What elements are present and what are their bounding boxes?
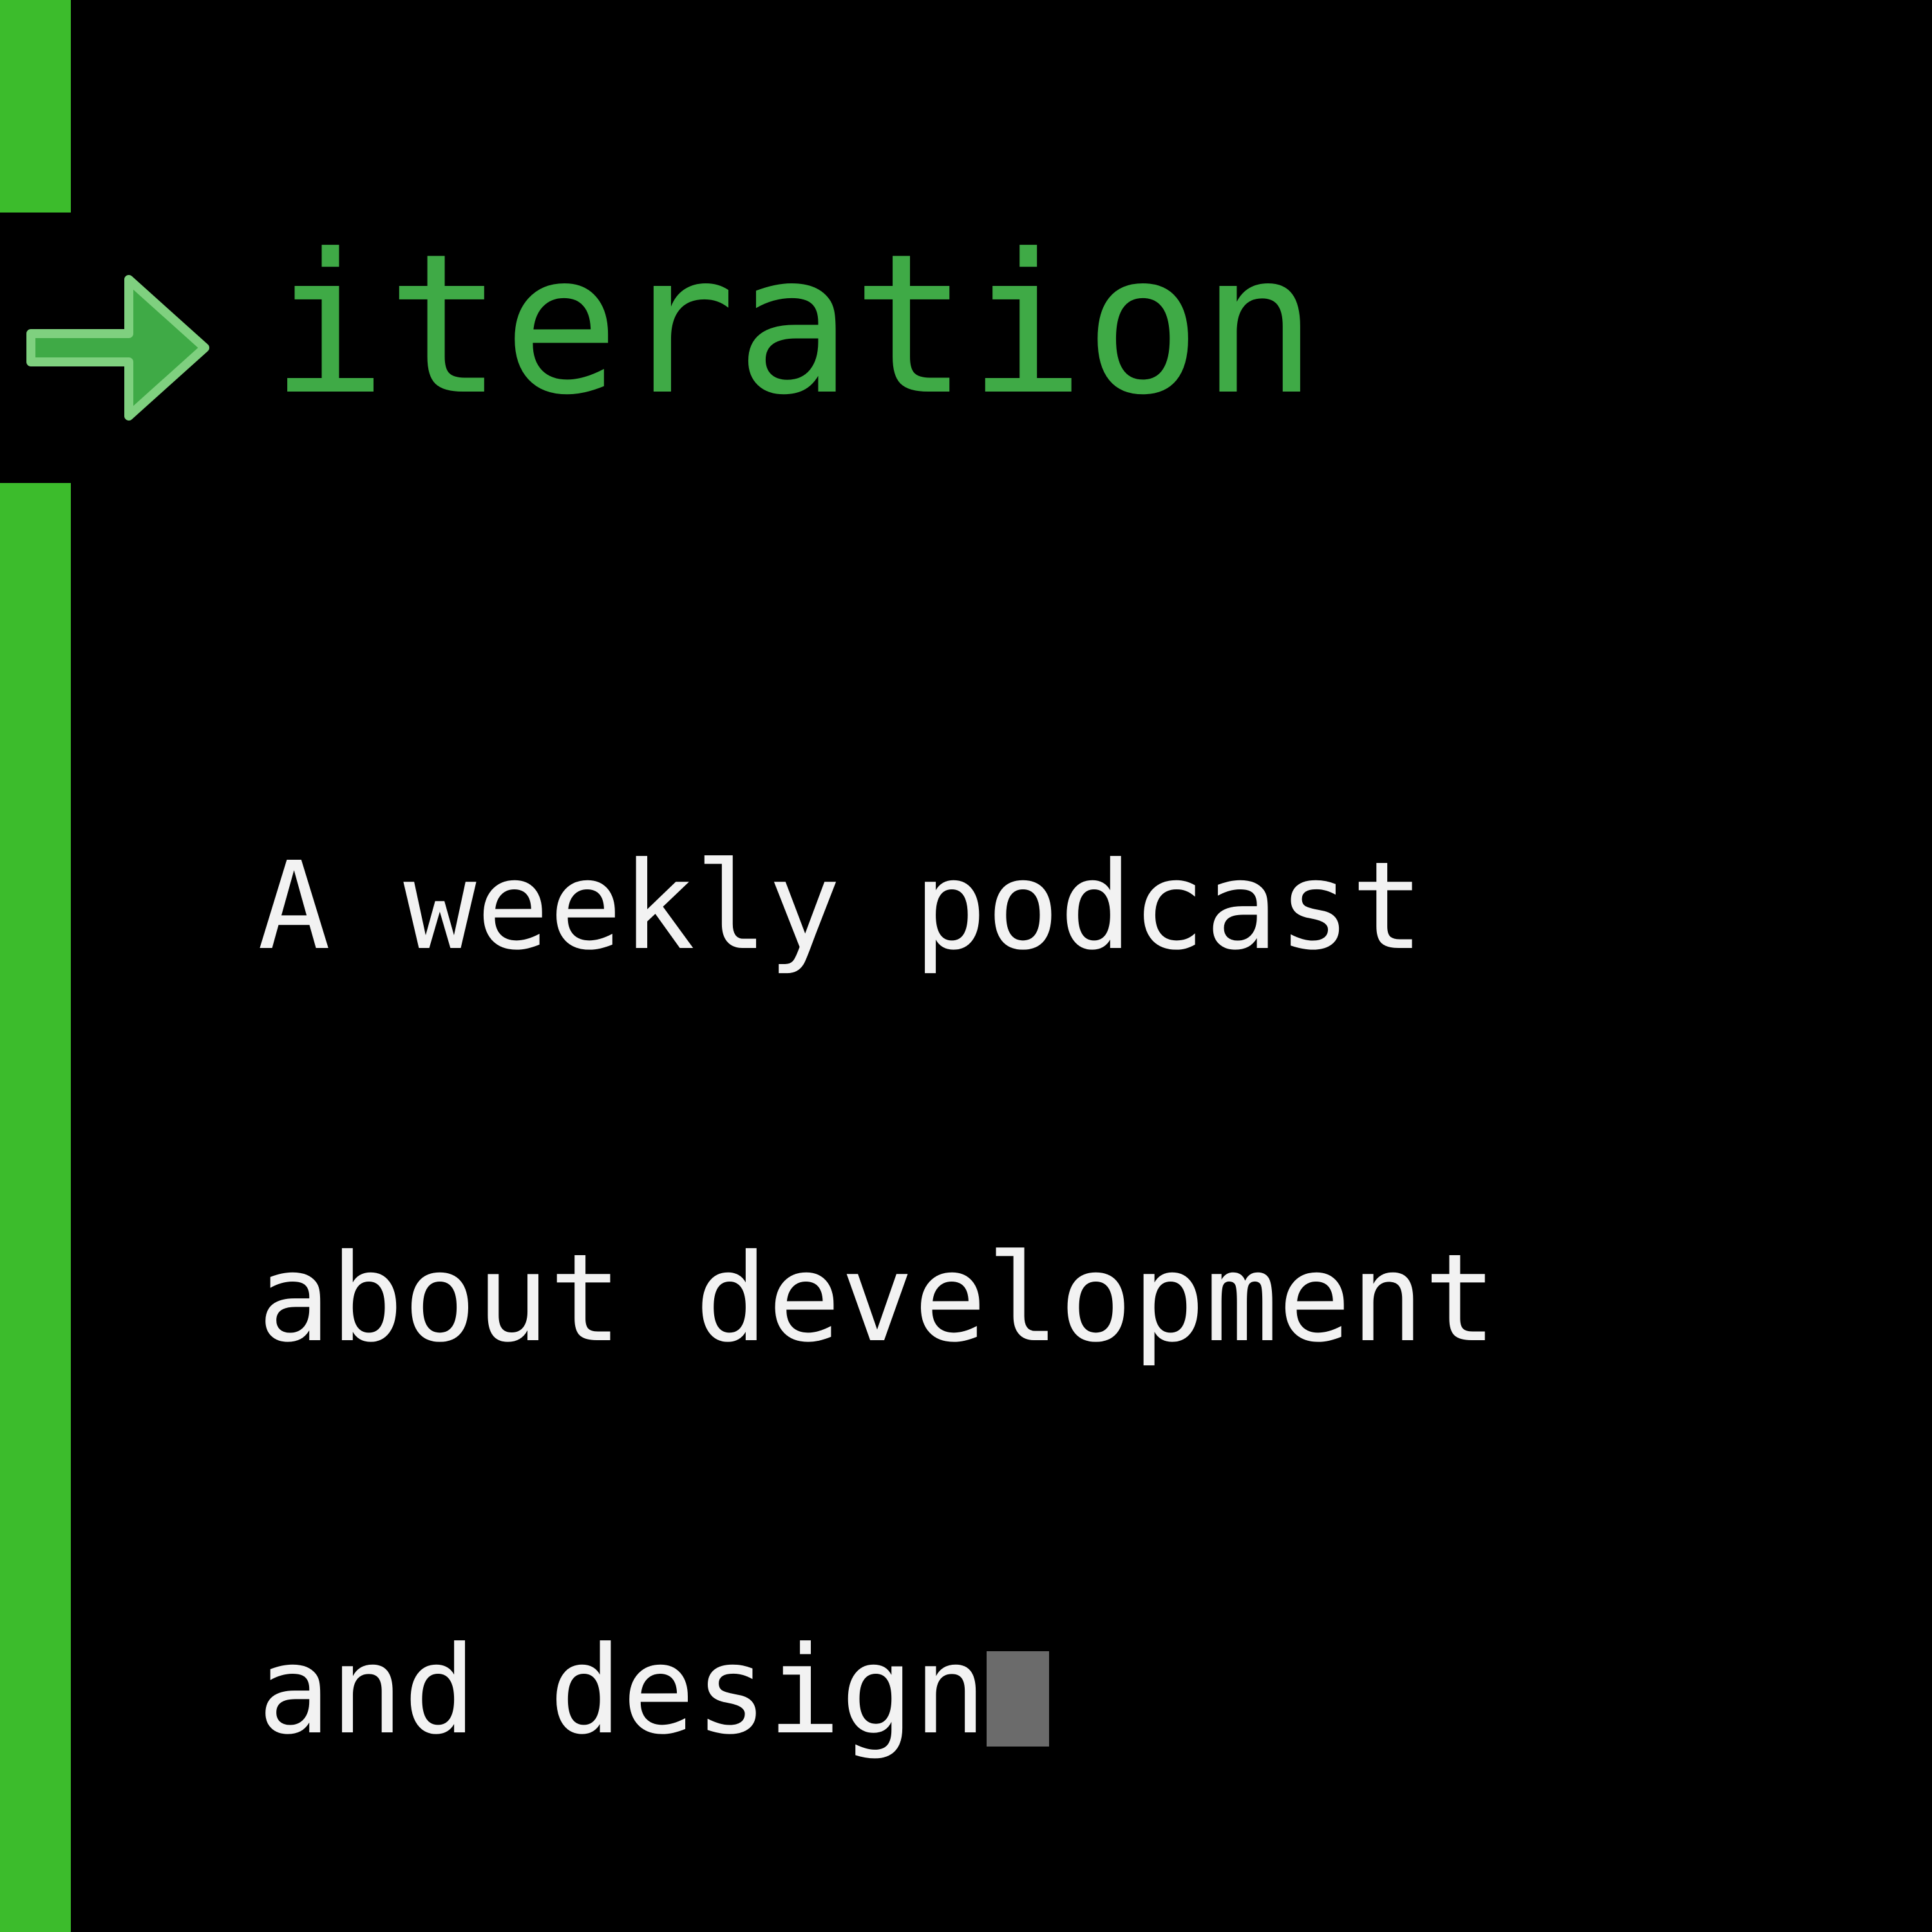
block-cursor (987, 1651, 1049, 1747)
left-accent-bar-top-segment (0, 0, 71, 213)
left-accent-bar-bottom-segment (0, 483, 71, 1932)
tagline-line-2: about development (258, 1233, 1497, 1364)
page-title: iteration (270, 229, 1318, 422)
podcast-cover-canvas: iteration A weekly podcast about develop… (0, 0, 1932, 1932)
tagline-line-3-wrapper: and design (258, 1625, 1497, 1756)
tagline-line-1: A weekly podcast (258, 841, 1497, 972)
arrow-right-icon (19, 258, 213, 438)
tagline: A weekly podcast about development and d… (258, 580, 1497, 1932)
tagline-line-3: and design (258, 1620, 987, 1761)
